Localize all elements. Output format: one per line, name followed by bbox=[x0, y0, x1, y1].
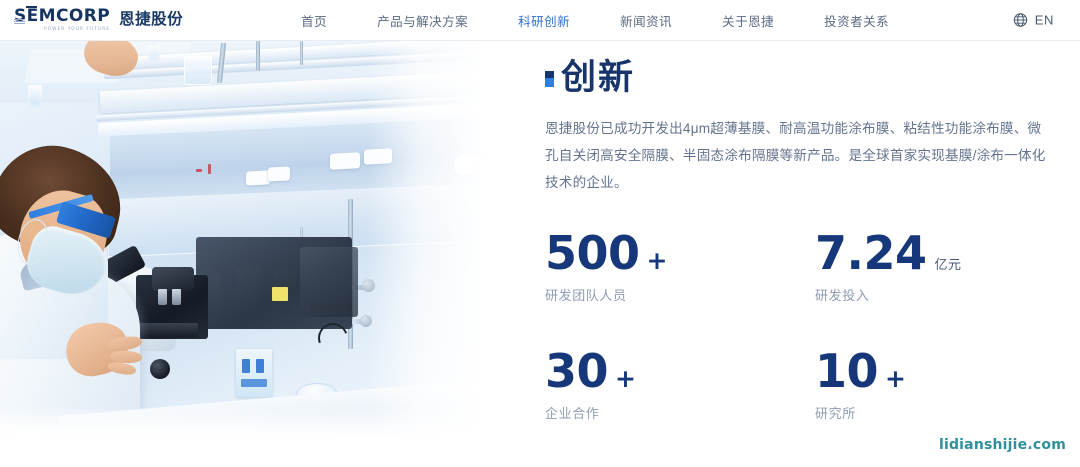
nav-item-investors[interactable]: 投资者关系 bbox=[799, 11, 914, 30]
site-header: SEMCORP POWER YOUR FUTURE 恩捷股份 首页 产品与解决方… bbox=[0, 0, 1080, 41]
hero-fade-bottom bbox=[0, 407, 484, 437]
nav-item-products[interactable]: 产品与解决方案 bbox=[352, 11, 493, 30]
stats-grid: 500 + 研发团队人员 7.24 亿元 研发投入 30 + 企业合作 bbox=[545, 230, 1065, 422]
stat-suffix: + bbox=[615, 366, 636, 391]
logo-stripes-icon bbox=[14, 19, 25, 24]
stat-number: 500 bbox=[545, 230, 640, 276]
stat-number: 10 bbox=[815, 348, 878, 394]
logo-wordmark-text: SEMCORP bbox=[14, 6, 110, 26]
page-root: SEMCORP POWER YOUR FUTURE 恩捷股份 首页 产品与解决方… bbox=[0, 0, 1080, 467]
logo-chinese-name: 恩捷股份 bbox=[119, 12, 183, 28]
stat-value: 7.24 亿元 bbox=[815, 230, 1080, 276]
stat-unit: 亿元 bbox=[935, 254, 962, 273]
stat-label: 研发投入 bbox=[815, 285, 1080, 304]
stat-item-research-institutes: 10 + 研究所 bbox=[815, 348, 1080, 422]
nav-item-home[interactable]: 首页 bbox=[276, 11, 352, 30]
stat-label: 研究所 bbox=[815, 403, 1080, 422]
nav-item-research[interactable]: 科研创新 bbox=[493, 11, 595, 30]
stat-value: 500 + bbox=[545, 230, 815, 276]
stat-item-enterprise-cooperation: 30 + 企业合作 bbox=[545, 348, 815, 422]
stat-number: 7.24 bbox=[815, 230, 927, 276]
stat-value: 10 + bbox=[815, 348, 1080, 394]
logo-tagline: POWER YOUR FUTURE bbox=[14, 27, 110, 31]
main-navigation: 首页 产品与解决方案 科研创新 新闻资讯 关于恩捷 投资者关系 bbox=[276, 11, 914, 30]
stat-number: 30 bbox=[545, 348, 608, 394]
watermark: lidianshijie.com bbox=[939, 437, 1066, 453]
nav-item-about[interactable]: 关于恩捷 bbox=[697, 11, 799, 30]
content-panel: 创新 恩捷股份已成功开发出4μm超薄基膜、耐高温功能涂布膜、粘结性功能涂布膜、微… bbox=[545, 58, 1065, 422]
language-label: EN bbox=[1035, 13, 1054, 28]
language-switcher[interactable]: EN bbox=[1013, 13, 1054, 28]
stat-suffix: + bbox=[885, 366, 906, 391]
title-marker-icon bbox=[545, 71, 554, 87]
nav-item-news[interactable]: 新闻资讯 bbox=[595, 11, 697, 30]
logo-wordmark: SEMCORP bbox=[14, 8, 110, 25]
globe-icon bbox=[1013, 13, 1028, 28]
stat-value: 30 + bbox=[545, 348, 815, 394]
site-logo[interactable]: SEMCORP POWER YOUR FUTURE 恩捷股份 bbox=[14, 8, 183, 31]
logo-e-bar bbox=[26, 6, 37, 8]
section-description: 恩捷股份已成功开发出4μm超薄基膜、耐高温功能涂布膜、粘结性功能涂布膜、微孔自关… bbox=[545, 115, 1047, 196]
stat-label: 研发团队人员 bbox=[545, 285, 815, 304]
logo-mark: SEMCORP POWER YOUR FUTURE bbox=[14, 8, 110, 31]
page-title: 创新 bbox=[561, 58, 635, 97]
stat-item-rd-team: 500 + 研发团队人员 bbox=[545, 230, 815, 304]
stat-item-rd-investment: 7.24 亿元 研发投入 bbox=[815, 230, 1080, 304]
stat-label: 企业合作 bbox=[545, 403, 815, 422]
stat-suffix: + bbox=[647, 248, 668, 273]
hero-fade-right bbox=[366, 41, 484, 437]
hero-image bbox=[0, 41, 484, 437]
section-title-row: 创新 bbox=[545, 58, 1065, 97]
